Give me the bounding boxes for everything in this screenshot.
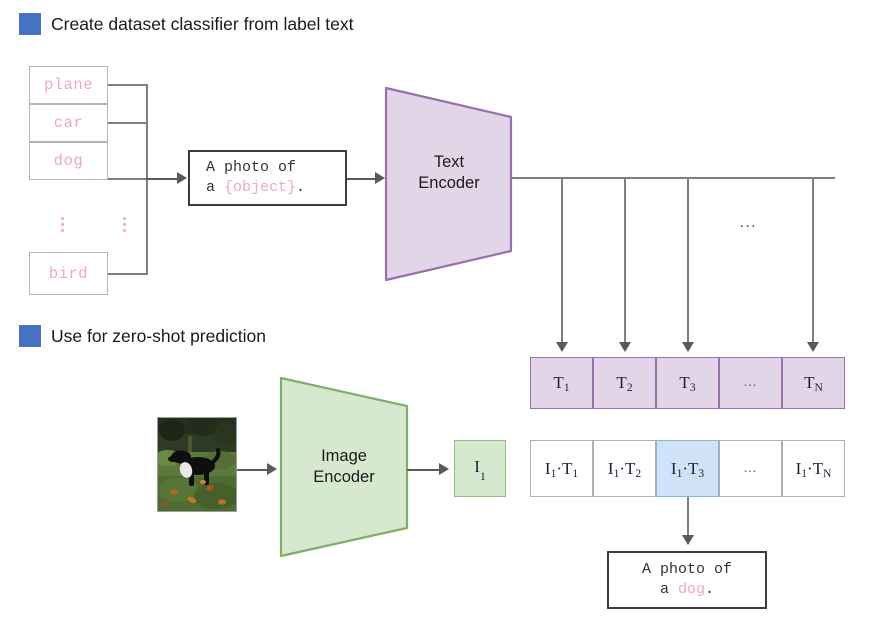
prompt-template-line2: a {object}. <box>206 178 305 198</box>
text-embedding-cell-t3[interactable]: T3 <box>656 357 719 409</box>
arrow-encoder-to-i1-line <box>407 469 441 471</box>
clip-zero-shot-diagram: Create dataset classifier from label tex… <box>0 0 871 642</box>
labels-vertical-ellipsis-right <box>118 214 130 235</box>
prediction-output-box[interactable]: A photo of a dog. <box>607 551 767 609</box>
text-embedding-cell-ellipsis: ... <box>719 357 782 409</box>
arrow-prompt-to-text-encoder-line <box>347 178 377 180</box>
label-box-bird[interactable]: bird <box>29 252 108 295</box>
prompt-template-box[interactable]: A photo of a {object}. <box>188 150 347 206</box>
prompt-template-line1: A photo of <box>206 158 296 178</box>
similarity-cell-n[interactable]: I1·TN <box>782 440 845 497</box>
similarity-cell-ellipsis: ... <box>719 440 782 497</box>
text-encoder-shape[interactable] <box>383 84 515 284</box>
similarity-label-1: I1·T1 <box>545 459 578 479</box>
arrow-image-to-encoder-head <box>267 463 277 475</box>
label-text-dog: dog <box>54 152 83 170</box>
arrow-labels-to-prompt-line <box>146 178 179 180</box>
label-box-car[interactable]: car <box>29 104 108 142</box>
text-embedding-cell-t2[interactable]: T2 <box>593 357 656 409</box>
prompt-template-suffix: . <box>296 179 305 196</box>
section-marker-zero-shot <box>19 325 41 347</box>
input-image-graphic <box>158 418 236 511</box>
prediction-prefix: a <box>660 581 678 598</box>
section-title-zero-shot: Use for zero-shot prediction <box>51 325 266 347</box>
image-encoder-shape[interactable] <box>277 374 411 560</box>
label-text-bird: bird <box>49 265 88 283</box>
text-embedding-label-t2: T2 <box>616 373 632 393</box>
connector-dog-horizontal <box>108 178 148 180</box>
prompt-template-prefix: a <box>206 179 224 196</box>
drop-arrow-t1 <box>556 342 568 352</box>
prompt-template-slot: {object} <box>224 179 296 196</box>
arrow-image-to-encoder-line <box>237 469 269 471</box>
text-embedding-cell-tn[interactable]: TN <box>782 357 845 409</box>
drop-line-t2 <box>624 177 626 343</box>
arrow-encoder-to-i1-head <box>439 463 449 475</box>
text-embedding-label-tn: TN <box>804 373 823 393</box>
section-title-create-classifier: Create dataset classifier from label tex… <box>51 13 354 35</box>
image-embedding-box-i1[interactable]: I1 <box>454 440 506 497</box>
label-box-dog[interactable]: dog <box>29 142 108 180</box>
similarity-label-2: I1·T2 <box>608 459 641 479</box>
prediction-line2: a dog. <box>660 580 714 600</box>
connector-plane-horizontal <box>108 84 148 86</box>
prediction-line1: A photo of <box>642 560 732 580</box>
prediction-suffix: . <box>705 581 714 598</box>
image-embedding-label-i1: I1 <box>474 457 485 479</box>
text-embedding-label-t1: T1 <box>553 373 569 393</box>
drop-arrow-t3 <box>682 342 694 352</box>
drop-line-tn <box>812 177 814 343</box>
connector-bird-horizontal <box>108 273 148 275</box>
input-image-thumbnail[interactable] <box>157 417 237 512</box>
arrow-selected-to-prediction-line <box>687 497 689 537</box>
drop-line-t1 <box>561 177 563 343</box>
text-embedding-label-ellipsis: ... <box>744 375 758 391</box>
label-text-car: car <box>54 114 83 132</box>
similarity-cell-2[interactable]: I1·T2 <box>593 440 656 497</box>
arrow-selected-to-prediction-head <box>682 535 694 545</box>
text-embedding-label-t3: T3 <box>679 373 695 393</box>
labels-vertical-ellipsis-left <box>56 214 68 235</box>
drop-arrow-tn <box>807 342 819 352</box>
label-box-plane[interactable]: plane <box>29 66 108 104</box>
similarity-label-3: I1·T3 <box>671 459 704 479</box>
drop-arrow-t2 <box>619 342 631 352</box>
bus-ellipsis: ... <box>740 215 757 232</box>
text-embedding-cell-t1[interactable]: T1 <box>530 357 593 409</box>
connector-car-horizontal <box>108 122 148 124</box>
label-text-plane: plane <box>44 76 93 94</box>
arrow-labels-to-prompt-head <box>177 172 187 184</box>
similarity-cell-3-selected[interactable]: I1·T3 <box>656 440 719 497</box>
similarity-cell-1[interactable]: I1·T1 <box>530 440 593 497</box>
drop-line-t3 <box>687 177 689 343</box>
section-marker-create-classifier <box>19 13 41 35</box>
text-encoder-output-bus <box>511 177 835 179</box>
prediction-class: dog <box>678 581 705 598</box>
similarity-label-ellipsis: ... <box>744 461 758 477</box>
similarity-label-n: I1·TN <box>796 459 832 479</box>
